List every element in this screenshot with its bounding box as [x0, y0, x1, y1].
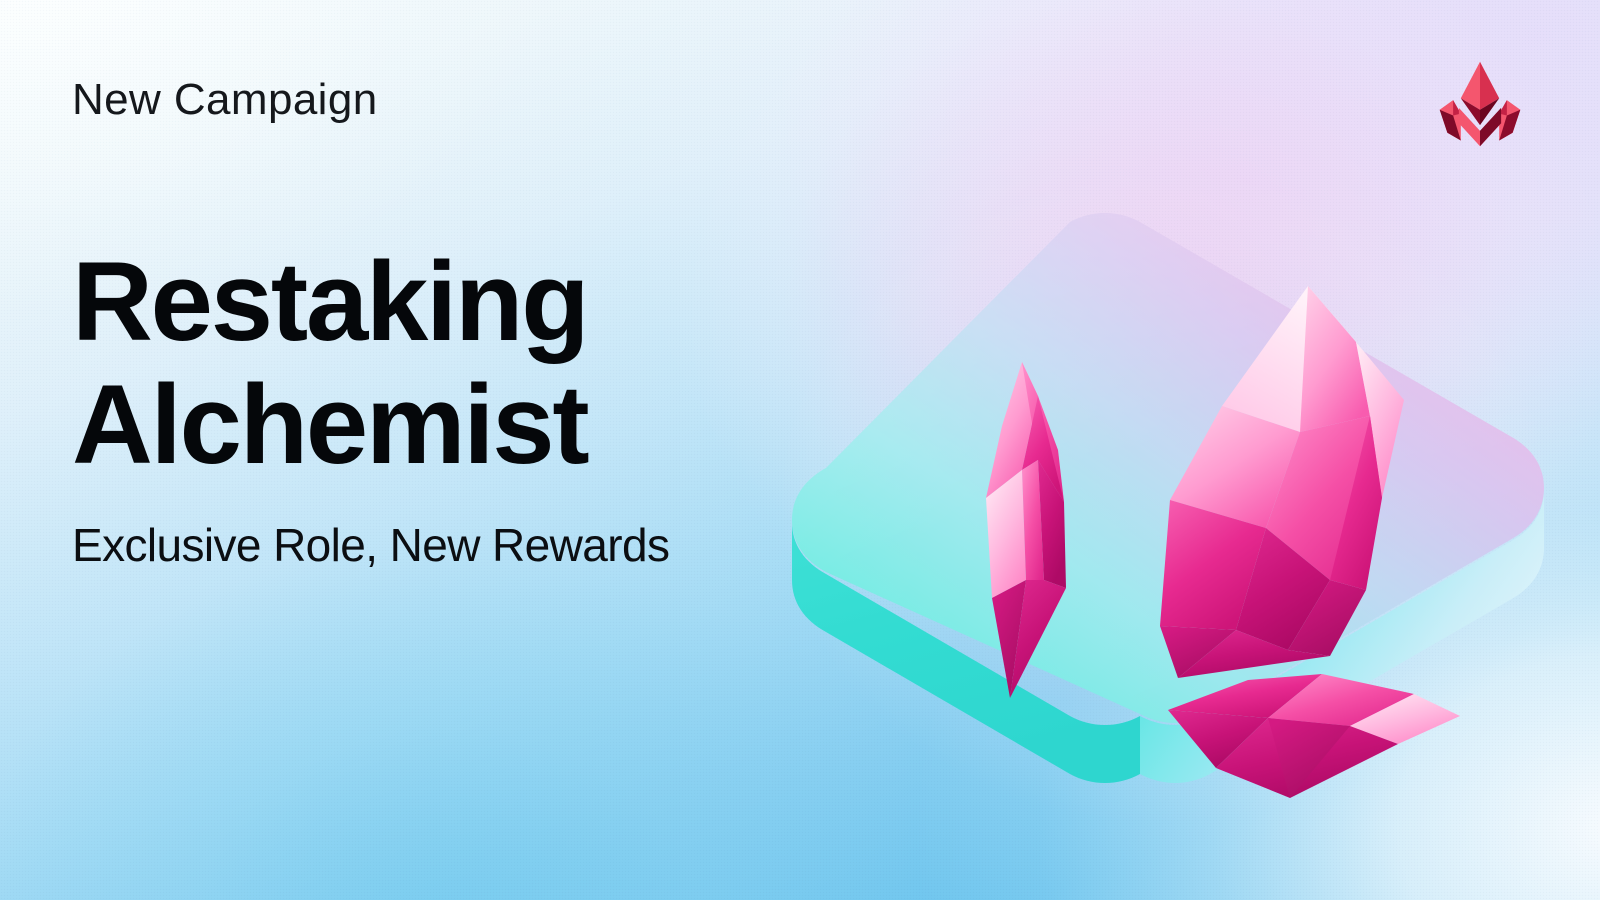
- crystal-tile-illustration: [770, 150, 1560, 850]
- campaign-text-block: New Campaign Restaking Alchemist Exclusi…: [72, 78, 832, 571]
- headline-line-1: Restaking: [72, 240, 832, 363]
- logo-diamond-upper-left: [1461, 62, 1480, 110]
- headline-line-2: Alchemist: [72, 363, 832, 486]
- page-title: Restaking Alchemist: [72, 240, 832, 486]
- logo-diamond-upper-right: [1480, 62, 1499, 110]
- eyebrow-label: New Campaign: [72, 78, 832, 122]
- subheadline: Exclusive Role, New Rewards: [72, 520, 832, 571]
- brand-logo[interactable]: [1432, 56, 1528, 152]
- campaign-banner: New Campaign Restaking Alchemist Exclusi…: [0, 0, 1600, 900]
- red-crystal-gem-icon: [1432, 56, 1528, 152]
